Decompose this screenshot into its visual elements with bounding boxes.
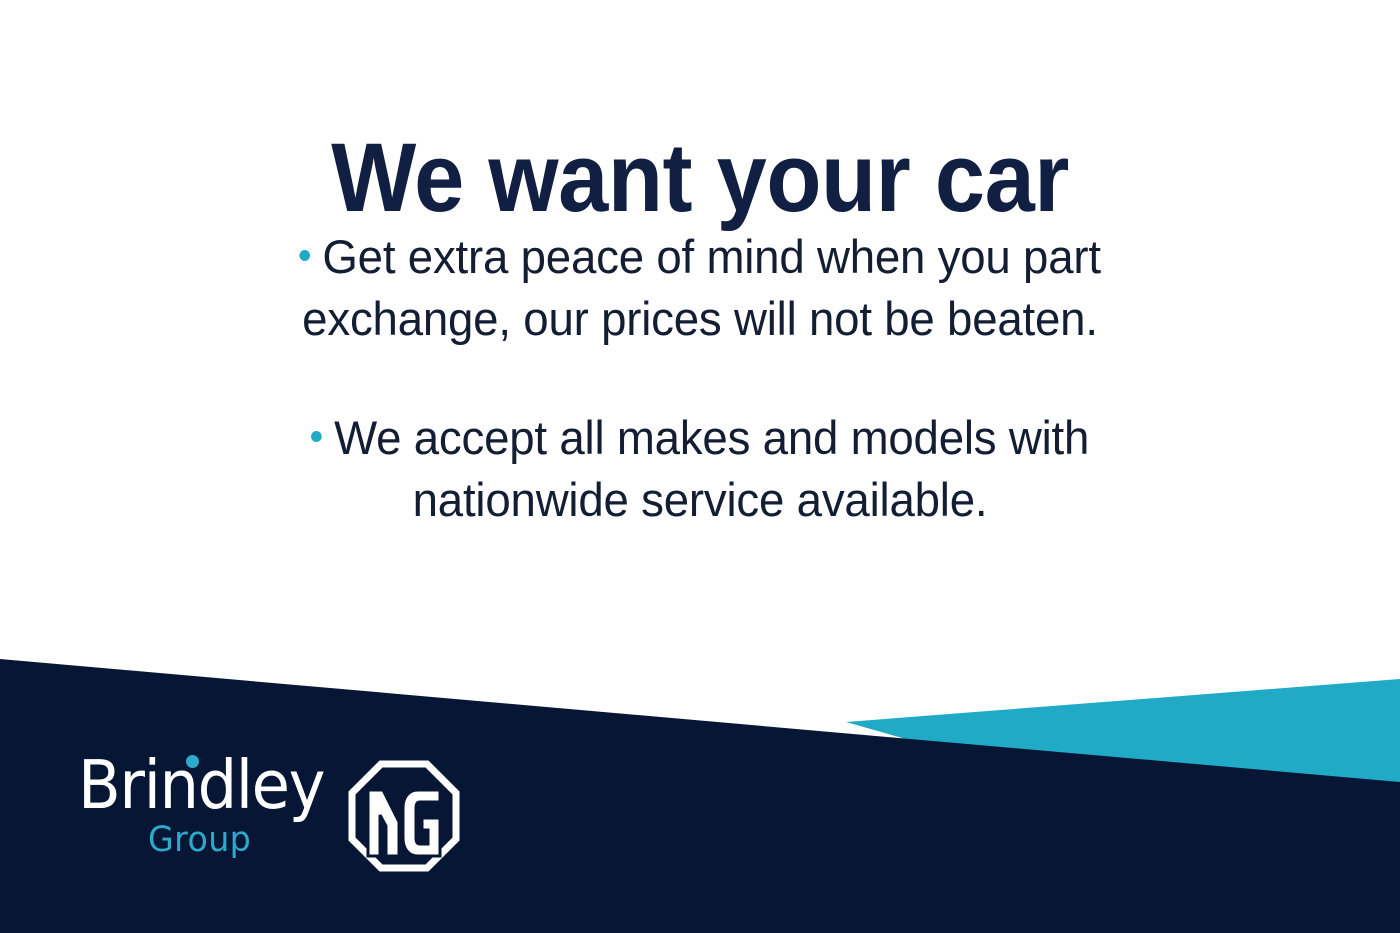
- brindley-group-subtitle: Group: [148, 823, 251, 858]
- list-item: Get extra peace of mind when you part ex…: [210, 226, 1190, 349]
- bullet-dot-icon: [299, 250, 310, 261]
- mg-logo: [348, 760, 460, 872]
- benefits-list: Get extra peace of mind when you part ex…: [0, 226, 1400, 530]
- list-item-label: Get extra peace of mind when you part ex…: [302, 230, 1101, 345]
- mg-letter-g-icon: [403, 790, 440, 856]
- mg-letter-m-icon: [368, 790, 399, 856]
- logo-row: Brindley Group: [78, 752, 460, 872]
- teal-wedge: [846, 679, 1400, 783]
- list-item: We accept all makes and models with nati…: [210, 407, 1190, 530]
- brindley-group-logo: Brindley Group: [78, 752, 330, 819]
- bullet-dot-icon: [311, 431, 322, 442]
- list-item-label: We accept all makes and models with nati…: [334, 411, 1089, 526]
- page-title: We want your car: [49, 127, 1351, 229]
- brindley-i-dot-icon: [186, 755, 199, 768]
- promo-slide: We want your car Get extra peace of mind…: [0, 0, 1400, 933]
